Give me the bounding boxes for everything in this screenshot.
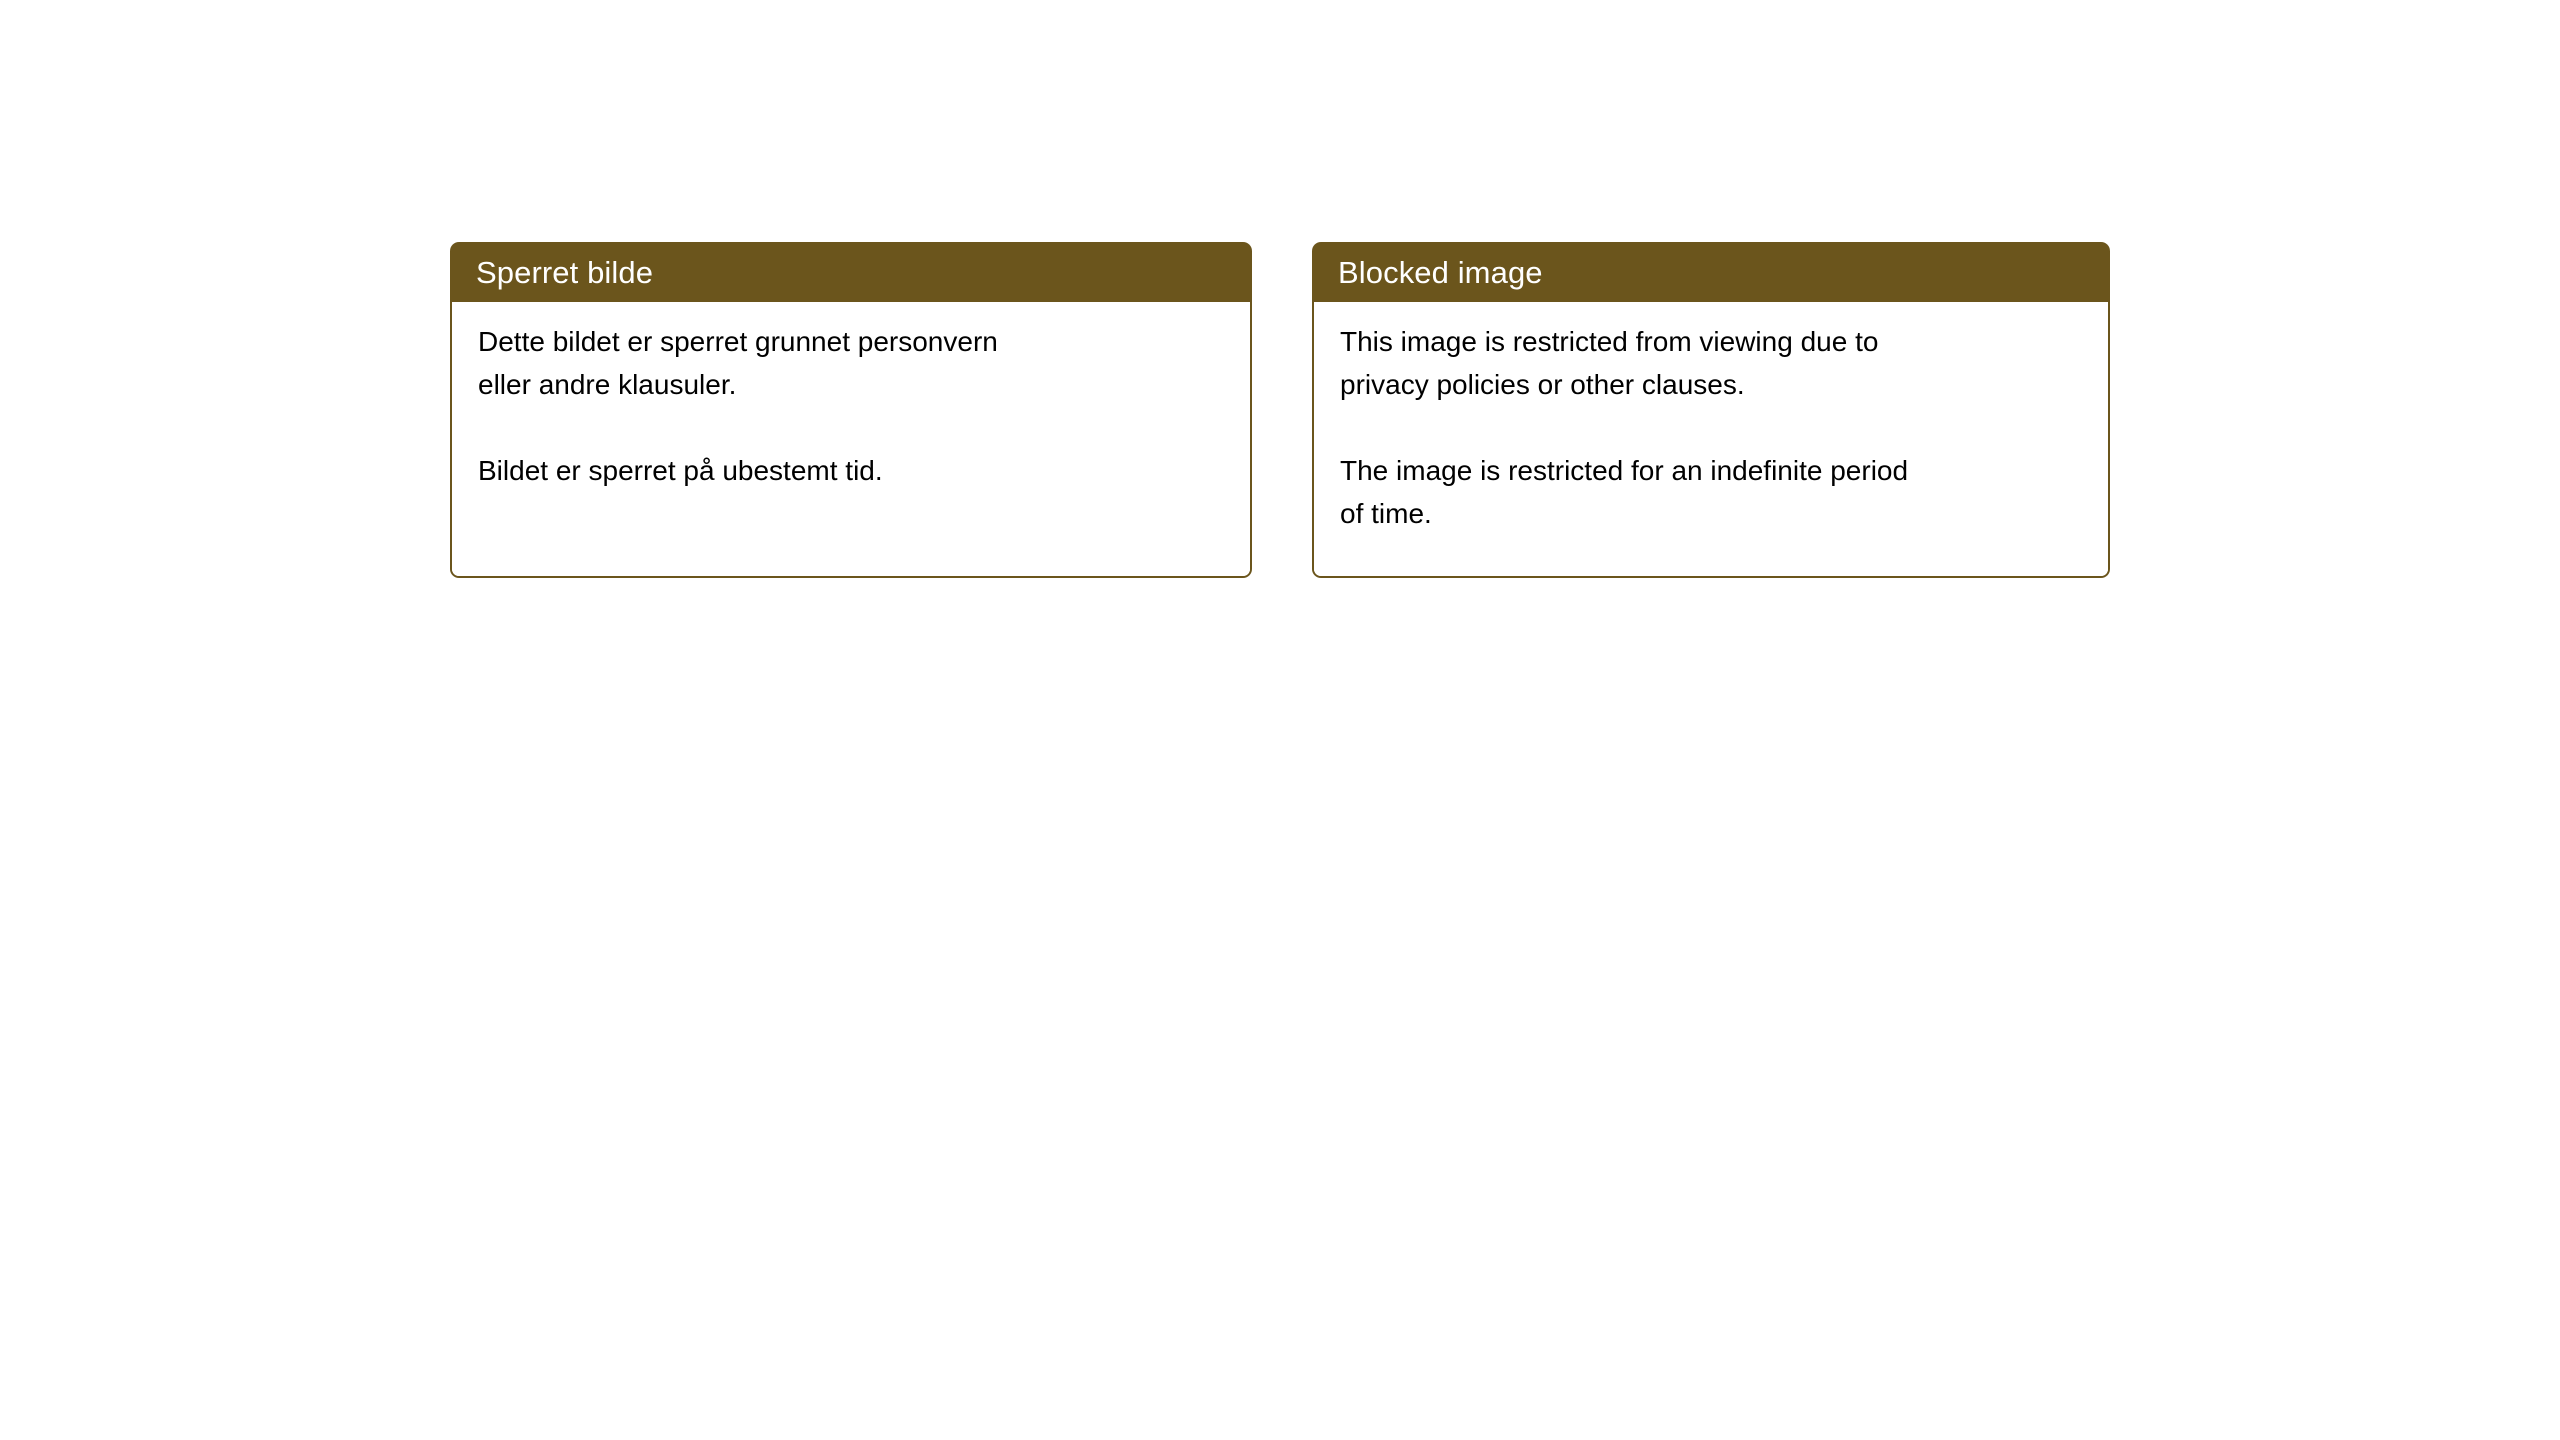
- panel-paragraph-en-2: The image is restricted for an indefinit…: [1340, 449, 2084, 535]
- blocked-image-panel-en: Blocked image This image is restricted f…: [1312, 242, 2110, 578]
- blocked-image-panel-nb: Sperret bilde Dette bildet er sperret gr…: [450, 242, 1252, 578]
- panel-title-nb: Sperret bilde: [476, 257, 653, 288]
- panel-body-content-en: This image is restricted from viewing du…: [1314, 302, 2108, 576]
- panel-body-en: This image is restricted from viewing du…: [1312, 302, 2110, 578]
- blocked-image-notice-group: Sperret bilde Dette bildet er sperret gr…: [450, 242, 2110, 578]
- panel-body-content-nb: Dette bildet er sperret grunnet personve…: [452, 302, 1250, 576]
- panel-paragraph-nb-1: Dette bildet er sperret grunnet personve…: [478, 320, 1226, 406]
- page-canvas: Sperret bilde Dette bildet er sperret gr…: [0, 0, 2560, 1440]
- panel-paragraph-nb-2: Bildet er sperret på ubestemt tid.: [478, 449, 1226, 492]
- panel-title-en: Blocked image: [1338, 257, 1543, 288]
- panel-header-nb: Sperret bilde: [450, 242, 1252, 302]
- panel-paragraph-en-1: This image is restricted from viewing du…: [1340, 320, 2084, 406]
- panel-header-en: Blocked image: [1312, 242, 2110, 302]
- panel-body-nb: Dette bildet er sperret grunnet personve…: [450, 302, 1252, 578]
